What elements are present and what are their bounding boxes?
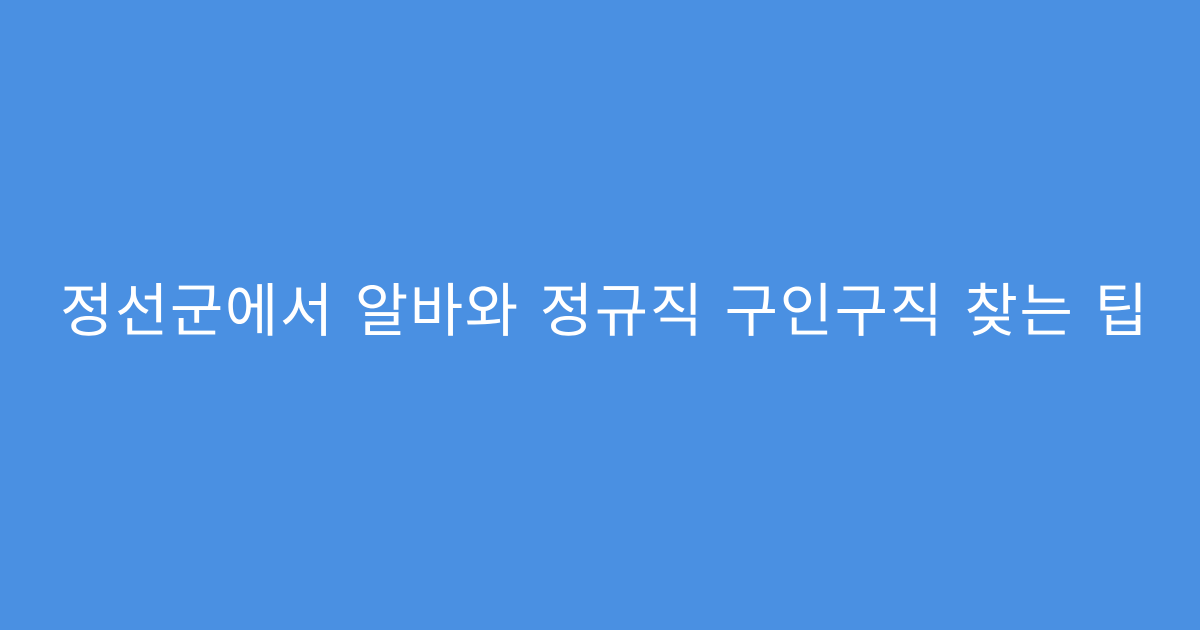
page-title: 정선군에서 알바와 정규직 구인구직 찾는 팁 (60, 277, 1140, 345)
social-share-card: 정선군에서 알바와 정규직 구인구직 찾는 팁 (0, 0, 1200, 630)
card-title-container: 정선군에서 알바와 정규직 구인구직 찾는 팁 (0, 277, 1200, 345)
